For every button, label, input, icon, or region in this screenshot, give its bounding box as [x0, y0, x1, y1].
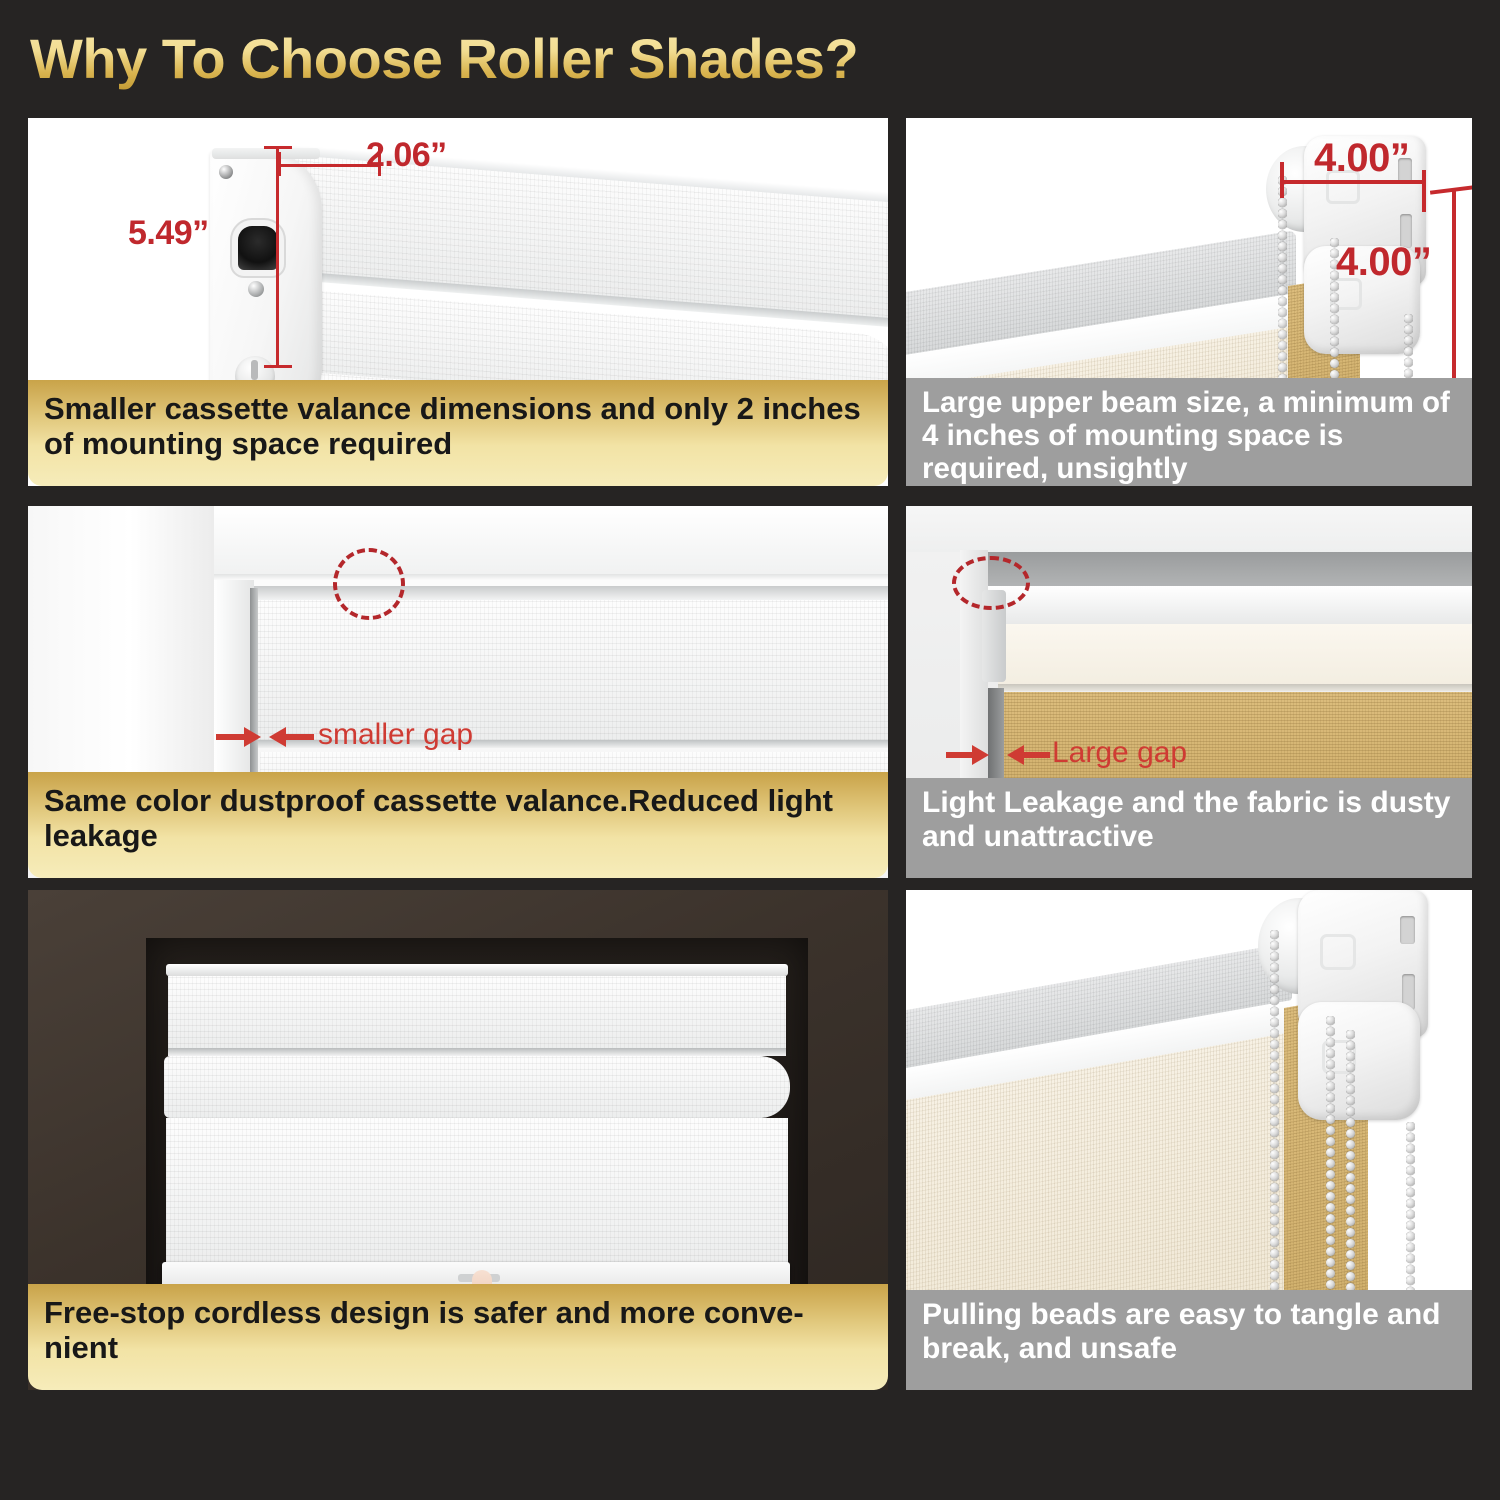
beam-width-label: 4.00”	[1314, 136, 1409, 181]
panel-caption: Large upper beam size, a minimum of 4 in…	[906, 378, 1472, 486]
bead-chain	[1270, 930, 1279, 1350]
width-dimension-line	[278, 164, 380, 167]
width-dimension-label: 2.06”	[366, 136, 447, 175]
cassette-valance-face	[168, 976, 786, 1050]
bracket-emboss-icon	[1320, 934, 1356, 970]
panel-caption: Free-stop cordless design is safer and m…	[28, 1284, 888, 1390]
screw-icon	[219, 165, 233, 179]
clutch-opening-icon	[238, 226, 278, 270]
mounting-bracket-lower	[1298, 1002, 1420, 1120]
beam-height-dimension-line	[1452, 190, 1456, 408]
panel-light-leakage: Large gap Light Leakage and the fabric i…	[906, 506, 1472, 878]
wall-backdrop	[906, 506, 1472, 552]
page-title: Why To Choose Roller Shades?	[30, 26, 858, 91]
bead-chain	[1278, 176, 1287, 381]
height-dim-tick-bottom	[264, 365, 292, 368]
panel-caption: Same color dustproof cassette valance.Re…	[28, 772, 888, 878]
bracket-slot	[1400, 916, 1415, 944]
panel-pulling-beads: Pulling beads are easy to tangle and bre…	[906, 890, 1472, 1390]
cream-valance	[998, 624, 1472, 686]
panel-caption: Light Leakage and the fabric is dusty an…	[906, 778, 1472, 878]
panel-caption: Smaller cassette valance dimensions and …	[28, 380, 888, 486]
gap-label: Large gap	[1052, 736, 1187, 770]
panel-cassette-dimensions: 5.49” 2.06” Smaller cassette valance dim…	[28, 118, 888, 486]
highlight-circle-annotation	[333, 548, 405, 620]
highlight-circle-annotation	[952, 556, 1030, 610]
width-dim-tick-left	[278, 152, 281, 176]
bead-chain	[1404, 314, 1413, 386]
height-dim-tick-top	[264, 146, 292, 149]
upper-beam-face	[988, 586, 1472, 626]
infographic-root: Why To Choose Roller Shades?	[0, 0, 1500, 1500]
height-dimension-line	[276, 146, 279, 368]
gap-arrow-left-icon	[946, 742, 990, 768]
screw-icon	[248, 281, 264, 297]
roller-bar	[164, 1056, 790, 1118]
panel-caption: Pulling beads are easy to tangle and bre…	[906, 1290, 1472, 1390]
gap-arrow-left-icon	[216, 724, 262, 750]
shade-fabric	[166, 1118, 788, 1268]
panel-large-upper-beam: 4.00” 4.00” Large upper beam size, a min…	[906, 118, 1472, 486]
window-frame-top	[214, 506, 888, 578]
gap-label: smaller gap	[318, 718, 473, 752]
panel-cordless-design: Free-stop cordless design is safer and m…	[28, 890, 888, 1390]
height-dimension-label: 5.49”	[128, 214, 209, 253]
beam-width-tick-left	[1280, 162, 1284, 198]
upper-beam-shadow	[984, 552, 1472, 590]
panel-smaller-gap: smaller gap Same color dustproof cassett…	[28, 506, 888, 878]
gap-arrow-right-icon	[1006, 742, 1050, 768]
gap-arrow-right-icon	[268, 724, 314, 750]
cassette-head-rail	[166, 964, 788, 976]
beam-height-label: 4.00”	[1336, 240, 1431, 285]
beam-width-tick-right	[1422, 170, 1426, 212]
window-frame-left	[28, 506, 214, 806]
